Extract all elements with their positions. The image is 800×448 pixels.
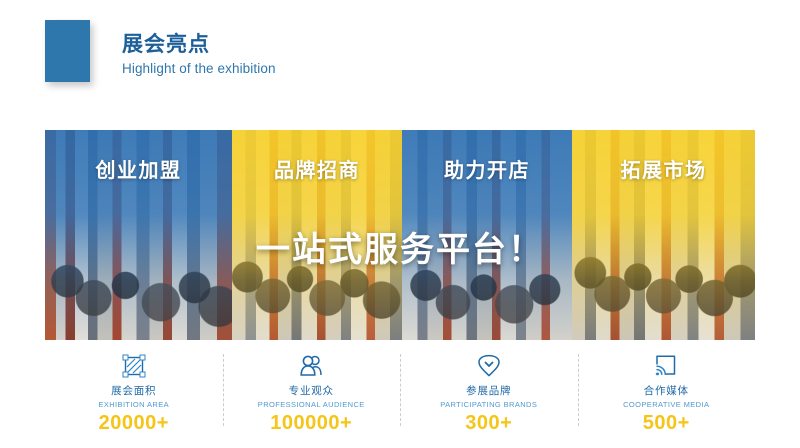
- stat-value: 500+: [643, 412, 690, 435]
- gallery-panel-4[interactable]: 拓展市场: [572, 130, 755, 340]
- stat-value: 100000+: [270, 412, 352, 435]
- stat-value: 20000+: [99, 412, 169, 435]
- stat-exhibition-area: 展会面积 EXHIBITION AREA 20000+: [45, 352, 223, 438]
- stat-label-cn: 展会面积: [111, 383, 156, 398]
- stat-cooperative-media: 合作媒体 COOPERATIVE MEDIA 500+: [578, 352, 756, 438]
- stat-professional-audience: 专业观众 PROFESSIONAL AUDIENCE 100000+: [223, 352, 401, 438]
- stat-label-cn: 参展品牌: [466, 383, 511, 398]
- stat-value: 300+: [465, 412, 512, 435]
- stat-label-en: PARTICIPATING BRANDS: [440, 400, 537, 409]
- participating-brands-icon: [474, 352, 504, 380]
- page-subtitle: Highlight of the exhibition: [122, 61, 276, 76]
- stat-label-cn: 专业观众: [289, 383, 334, 398]
- professional-audience-icon: [298, 352, 324, 380]
- stat-participating-brands: 参展品牌 PARTICIPATING BRANDS 300+: [400, 352, 578, 438]
- gallery-panel-label-1: 创业加盟: [45, 154, 232, 183]
- cooperative-media-icon: [653, 352, 679, 380]
- stat-label-en: EXHIBITION AREA: [98, 400, 169, 409]
- gallery-panel-label-4: 拓展市场: [572, 154, 755, 183]
- gallery-panel-label-2: 品牌招商: [232, 154, 402, 183]
- stat-label-en: PROFESSIONAL AUDIENCE: [258, 400, 365, 409]
- gallery-panel-3[interactable]: 助力开店: [402, 130, 572, 340]
- gallery-panel-label-3: 助力开店: [402, 154, 572, 183]
- exhibition-area-icon: [121, 352, 147, 380]
- page-header: 展会亮点 Highlight of the exhibition: [0, 0, 800, 110]
- title-block: 展会亮点 Highlight of the exhibition: [122, 32, 276, 76]
- stats-row: 展会面积 EXHIBITION AREA 20000+ 专业观众 PROFESS…: [45, 352, 755, 438]
- header-accent-bar: [45, 20, 90, 82]
- gallery-panel-2[interactable]: 品牌招商: [232, 130, 402, 340]
- highlight-gallery: 创业加盟 品牌招商 助力开店 拓展市场: [45, 130, 755, 340]
- stat-label-cn: 合作媒体: [644, 383, 689, 398]
- gallery-panel-1[interactable]: 创业加盟: [45, 130, 232, 340]
- stat-label-en: COOPERATIVE MEDIA: [623, 400, 709, 409]
- page-title: 展会亮点: [122, 32, 276, 58]
